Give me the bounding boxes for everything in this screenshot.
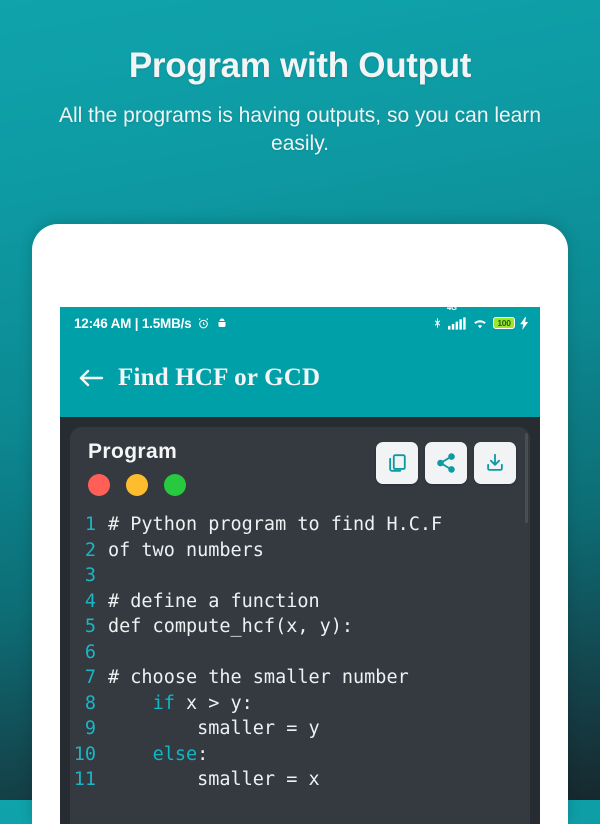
- code-line-number: 10: [70, 742, 108, 768]
- code-line-number: 5: [70, 614, 108, 640]
- signal-bars-icon: 4G: [448, 317, 467, 330]
- status-bar: 12:46 AM | 1.5MB/s: [60, 307, 540, 339]
- page-title: Program with Output: [0, 46, 600, 86]
- battery-level: 100: [497, 318, 510, 328]
- phone-mockup: 12:46 AM | 1.5MB/s: [32, 224, 568, 824]
- code-line-text: else:: [108, 742, 530, 768]
- screen-body: Program: [60, 417, 540, 824]
- code-line-text: # define a function: [108, 589, 530, 615]
- window-dot-yellow: [126, 474, 148, 496]
- bluetooth-icon: [432, 316, 443, 330]
- code-line-number: 3: [70, 563, 108, 589]
- code-line: 3: [70, 563, 530, 589]
- code-line: 9 smaller = y: [70, 716, 530, 742]
- phone-screen: 12:46 AM | 1.5MB/s: [60, 307, 540, 824]
- code-keyword: if: [153, 693, 175, 714]
- battery-icon: 100: [493, 317, 515, 329]
- code-line: 4# define a function: [70, 589, 530, 615]
- share-button[interactable]: [425, 442, 467, 484]
- code-line: 8 if x > y:: [70, 691, 530, 717]
- page-subtitle: All the programs is having outputs, so y…: [50, 102, 550, 158]
- code-line: 10 else:: [70, 742, 530, 768]
- code-line-text: if x > y:: [108, 691, 530, 717]
- program-actions: [376, 442, 516, 484]
- code-keyword: else: [153, 744, 198, 765]
- promo-header: Program with Output All the programs is …: [0, 0, 600, 158]
- code-line: 2of two numbers: [70, 538, 530, 564]
- status-time-and-speed: 12:46 AM | 1.5MB/s: [74, 316, 191, 331]
- wifi-icon: [472, 317, 488, 330]
- back-arrow-icon[interactable]: [78, 367, 104, 389]
- charging-bolt-icon: [520, 317, 529, 330]
- copy-button[interactable]: [376, 442, 418, 484]
- window-dots: [88, 474, 186, 496]
- code-line: 5def compute_hcf(x, y):: [70, 614, 530, 640]
- code-line-text: [108, 640, 530, 666]
- code-line-text: [108, 563, 530, 589]
- code-line-number: 4: [70, 589, 108, 615]
- code-line: 1# Python program to find H.C.F: [70, 512, 530, 538]
- window-dot-red: [88, 474, 110, 496]
- code-line-text: of two numbers: [108, 538, 530, 564]
- code-line-text: smaller = y: [108, 716, 530, 742]
- android-head-icon: [216, 317, 228, 330]
- code-line-number: 8: [70, 691, 108, 717]
- code-line-number: 11: [70, 767, 108, 793]
- program-card: Program: [70, 427, 530, 824]
- download-button[interactable]: [474, 442, 516, 484]
- code-line-number: 2: [70, 538, 108, 564]
- code-line-text: def compute_hcf(x, y):: [108, 614, 530, 640]
- code-line-number: 7: [70, 665, 108, 691]
- code-line-number: 1: [70, 512, 108, 538]
- code-line-text: # choose the smaller number: [108, 665, 530, 691]
- code-scrollbar[interactable]: [525, 433, 528, 523]
- app-bar: Find HCF or GCD: [60, 339, 540, 417]
- code-line-text: smaller = x: [108, 767, 530, 793]
- code-line: 6: [70, 640, 530, 666]
- program-card-title: Program: [88, 440, 186, 464]
- code-line-number: 6: [70, 640, 108, 666]
- code-block[interactable]: 1# Python program to find H.C.F2of two n…: [70, 512, 530, 793]
- app-bar-title: Find HCF or GCD: [118, 364, 320, 392]
- code-line: 7# choose the smaller number: [70, 665, 530, 691]
- code-line: 11 smaller = x: [70, 767, 530, 793]
- code-line-text: # Python program to find H.C.F: [108, 512, 530, 538]
- program-card-header: Program: [70, 427, 530, 496]
- window-dot-green: [164, 474, 186, 496]
- alarm-icon: [197, 317, 210, 330]
- code-line-number: 9: [70, 716, 108, 742]
